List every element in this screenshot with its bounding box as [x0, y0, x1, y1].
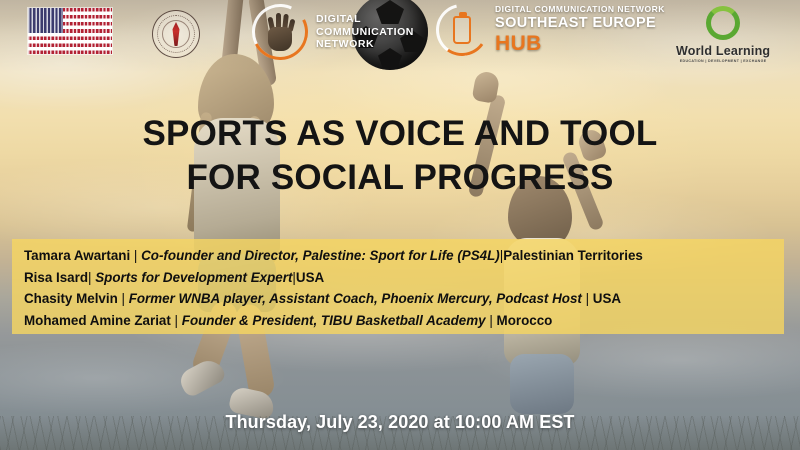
speaker-country: Palestinian Territories	[503, 248, 643, 263]
speaker-name: Risa Isard	[24, 270, 88, 285]
logo-header: DIGITAL COMMUNICATION NETWORK DIGITAL CO…	[0, 0, 800, 72]
southeast-europe-hub-logo: DIGITAL COMMUNICATION NETWORK SOUTHEAST …	[436, 4, 665, 56]
speaker-row: Risa Isard| Sports for Development Exper…	[24, 267, 774, 289]
webinar-promo-poster: DIGITAL COMMUNICATION NETWORK DIGITAL CO…	[0, 0, 800, 450]
poster-title: SPORTS AS VOICE AND TOOL FOR SOCIAL PROG…	[0, 112, 800, 201]
hub-line3: HUB	[495, 33, 665, 55]
speaker-row: Mohamed Amine Zariat | Founder & Preside…	[24, 310, 774, 332]
dcn-hand-icon	[252, 4, 308, 60]
hub-line1: DIGITAL COMMUNICATION NETWORK	[495, 5, 665, 14]
speaker-role: Founder & President, TIBU Basketball Aca…	[182, 313, 486, 328]
digital-communication-network-logo: DIGITAL COMMUNICATION NETWORK	[252, 4, 414, 60]
speaker-country: Morocco	[497, 313, 553, 328]
speaker-role: Former WNBA player, Assistant Coach, Pho…	[129, 291, 582, 306]
world-learning-circle-icon	[706, 6, 740, 40]
speaker-country: USA	[296, 270, 324, 285]
event-datetime: Thursday, July 23, 2020 at 10:00 AM EST	[0, 412, 800, 433]
speaker-panel: Tamara Awartani | Co-founder and Directo…	[12, 239, 784, 334]
world-learning-name: World Learning	[676, 44, 770, 58]
embassy-seal-icon	[152, 10, 200, 58]
speaker-name: Tamara Awartani	[24, 248, 130, 263]
world-learning-logo: World Learning EDUCATION | DEVELOPMENT |…	[676, 6, 770, 63]
speaker-row: Tamara Awartani | Co-founder and Directo…	[24, 245, 774, 267]
speaker-name: Mohamed Amine Zariat	[24, 313, 171, 328]
dcn-line1: DIGITAL	[316, 13, 414, 26]
dcn-line2: COMMUNICATION	[316, 26, 414, 39]
us-flag-icon	[28, 8, 112, 54]
hub-bottle-icon	[436, 4, 488, 56]
speaker-country: USA	[593, 291, 621, 306]
title-line-1: SPORTS AS VOICE AND TOOL	[143, 114, 658, 153]
speaker-role: Co-founder and Director, Palestine: Spor…	[141, 248, 500, 263]
dcn-line3: NETWORK	[316, 38, 414, 51]
speaker-name: Chasity Melvin	[24, 291, 118, 306]
title-line-2: FOR SOCIAL PROGRESS	[0, 156, 800, 200]
speaker-row: Chasity Melvin | Former WNBA player, Ass…	[24, 288, 774, 310]
speaker-role: Sports for Development Expert	[95, 270, 292, 285]
hub-line2: SOUTHEAST EUROPE	[495, 16, 665, 31]
world-learning-tagline: EDUCATION | DEVELOPMENT | EXCHANGE	[680, 59, 767, 63]
